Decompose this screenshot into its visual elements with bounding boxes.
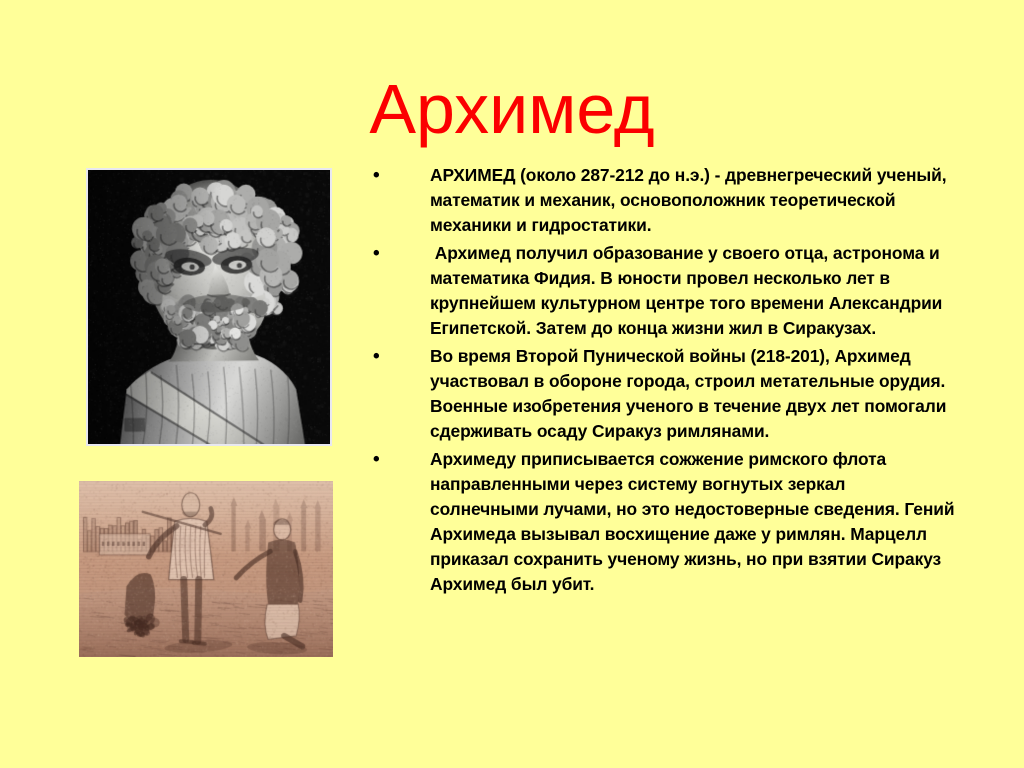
list-item: • Во время Второй Пунической войны (218-… bbox=[366, 344, 956, 444]
list-item-text: АРХИМЕД (около 287-212 до н.э.) - древне… bbox=[430, 163, 956, 238]
list-item: • Архимед получил образование у своего о… bbox=[366, 241, 956, 341]
presentation-slide: Архимед • АРХИМЕД (около 287-212 до н.э.… bbox=[0, 0, 1024, 768]
bullet-list: • АРХИМЕД (около 287-212 до н.э.) - древ… bbox=[366, 163, 956, 600]
bullet-marker-icon: • bbox=[373, 344, 387, 369]
list-item-text: Во время Второй Пунической войны (218-20… bbox=[430, 344, 956, 444]
list-item: • АРХИМЕД (около 287-212 до н.э.) - древ… bbox=[366, 163, 956, 238]
list-item-text: Архимед получил образование у своего отц… bbox=[430, 241, 956, 341]
bullet-marker-icon: • bbox=[373, 447, 387, 472]
archimedes-engraving-image bbox=[79, 481, 333, 657]
page-title: Архимед bbox=[0, 69, 1024, 149]
list-item-text: Архимеду приписывается сожжение римского… bbox=[430, 447, 956, 597]
bullet-marker-icon: • bbox=[373, 241, 387, 266]
bullet-marker-icon: • bbox=[373, 163, 387, 188]
archimedes-bust-image bbox=[88, 170, 330, 444]
archimedes-bust-photo bbox=[86, 168, 332, 446]
list-item: • Архимеду приписывается сожжение римско… bbox=[366, 447, 956, 597]
archimedes-engraving bbox=[79, 481, 333, 657]
